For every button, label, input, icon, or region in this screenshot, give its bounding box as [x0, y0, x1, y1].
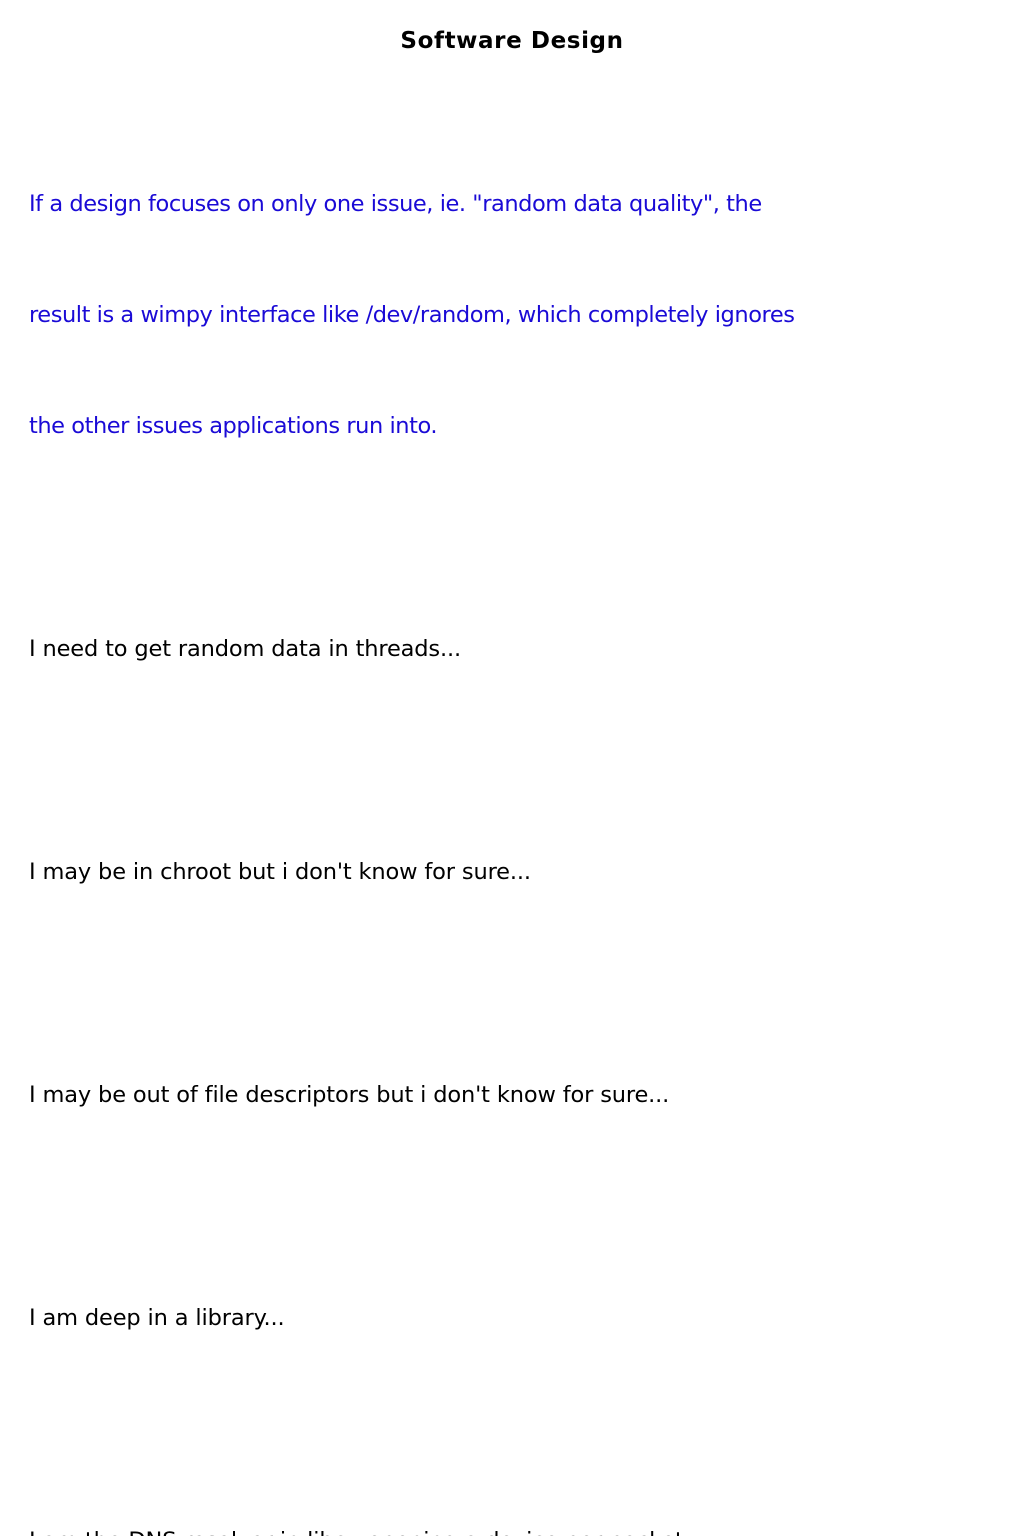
paragraph-dns-resolver: I am the DNS resolver in libc - opening …: [29, 1449, 1014, 1536]
paragraph-library: I am deep in a library...: [29, 1226, 1014, 1411]
paragraph-intro: If a design focuses on only one issue, i…: [29, 112, 1014, 519]
page-title: Software Design: [0, 26, 1024, 56]
paragraph-spacer: [29, 1411, 1014, 1449]
paragraph-line: result is a wimpy interface like /dev/ra…: [29, 297, 1014, 334]
paragraph-spacer: [29, 965, 1014, 1003]
paragraph-file-descriptors: I may be out of file descriptors but i d…: [29, 1003, 1014, 1188]
paragraph-line: I need to get random data in threads...: [29, 631, 1014, 668]
paragraph-line: the other issues applications run into.: [29, 408, 1014, 445]
paragraph-spacer: [29, 519, 1014, 557]
slide-body: If a design focuses on only one issue, i…: [29, 112, 1014, 1536]
presentation-slide: Software Design If a design focuses on o…: [0, 0, 1024, 768]
paragraph-spacer: [29, 1188, 1014, 1226]
paragraph-spacer: [29, 742, 1014, 780]
paragraph-line: I am the DNS resolver in libc - opening …: [29, 1523, 1014, 1536]
paragraph-threads: I need to get random data in threads...: [29, 557, 1014, 742]
paragraph-line: I am deep in a library...: [29, 1300, 1014, 1337]
paragraph-line: I may be out of file descriptors but i d…: [29, 1077, 1014, 1114]
paragraph-line: If a design focuses on only one issue, i…: [29, 186, 1014, 223]
paragraph-line: I may be in chroot but i don't know for …: [29, 854, 1014, 891]
paragraph-chroot: I may be in chroot but i don't know for …: [29, 780, 1014, 965]
